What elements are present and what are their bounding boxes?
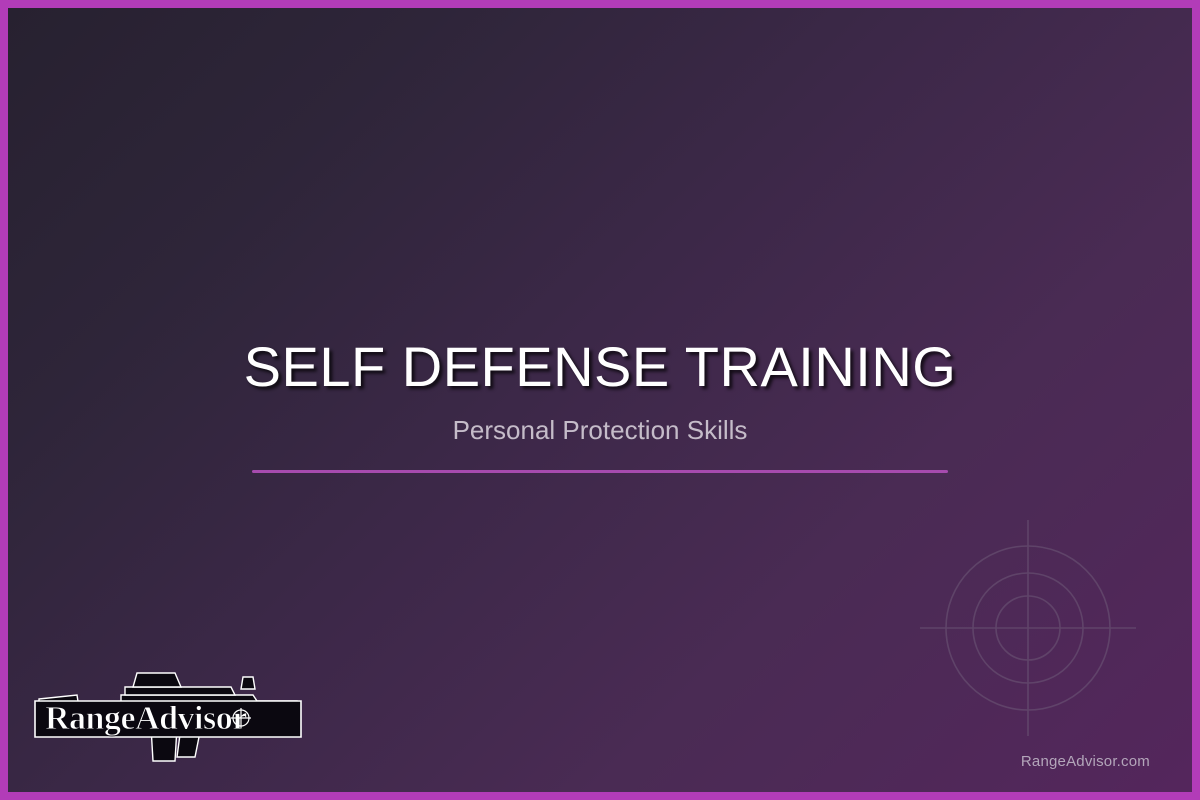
presentation-slide: SELF DEFENSE TRAINING Personal Protectio… — [0, 0, 1200, 800]
footer-url: RangeAdvisor.com — [1021, 753, 1150, 770]
rifle-silhouette-icon: RangeAdvisor — [25, 665, 315, 770]
logo-wordmark: RangeAdvisor — [45, 700, 247, 737]
slide-canvas: SELF DEFENSE TRAINING Personal Protectio… — [8, 8, 1192, 792]
title-divider — [252, 470, 948, 473]
slide-subtitle: Personal Protection Skills — [8, 415, 1192, 446]
slide-title: SELF DEFENSE TRAINING — [8, 338, 1192, 397]
title-block: SELF DEFENSE TRAINING Personal Protectio… — [8, 338, 1192, 473]
crosshair-target-icon — [920, 520, 1136, 736]
